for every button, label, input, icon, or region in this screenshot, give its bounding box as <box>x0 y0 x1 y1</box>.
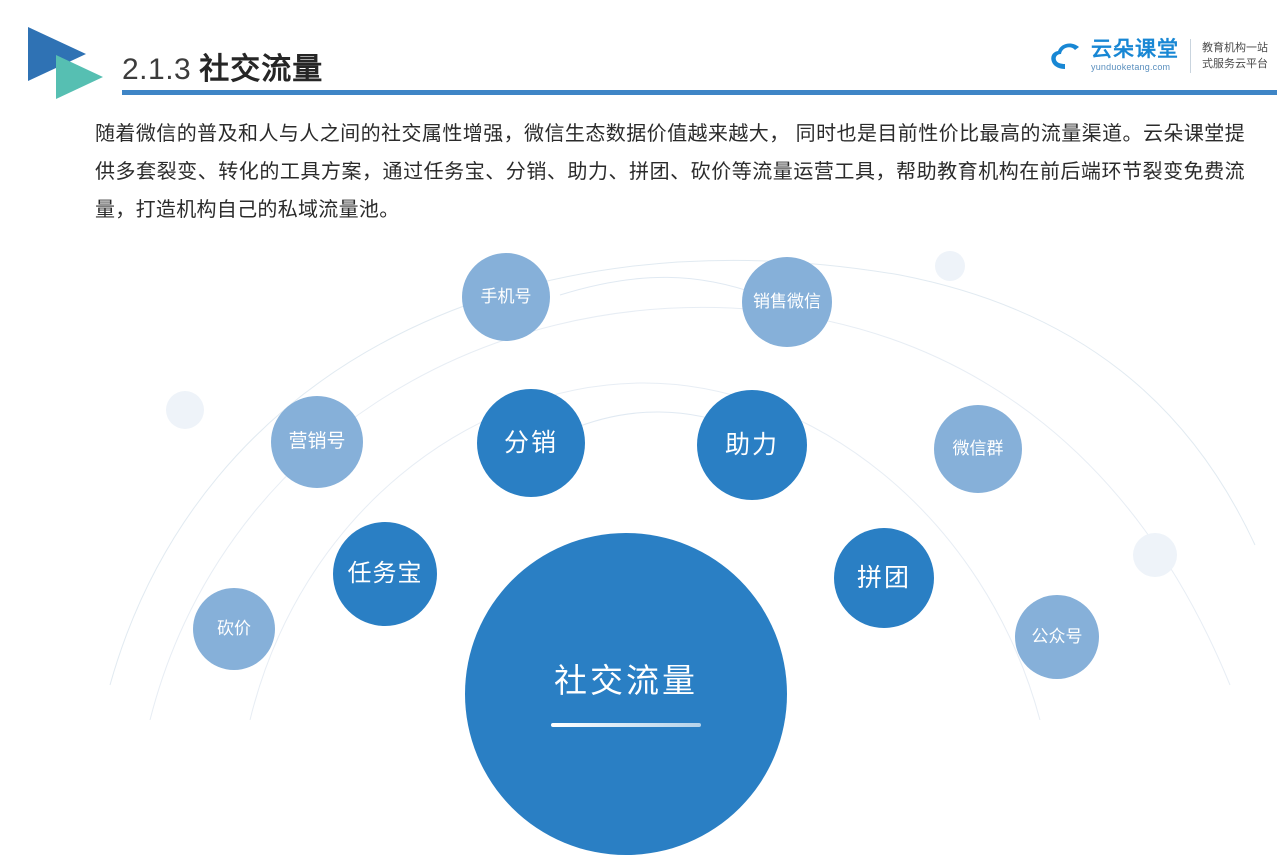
diagram-node-task-treasure[interactable]: 任务宝 <box>333 522 437 626</box>
diagram-node-group-buy[interactable]: 拼团 <box>834 528 934 628</box>
logo-triangle-teal <box>56 55 103 99</box>
brand-divider <box>1190 39 1191 73</box>
diagram-node-phone-number[interactable]: 手机号 <box>462 253 550 341</box>
decorative-circle <box>935 251 965 281</box>
body-paragraph: 随着微信的普及和人与人之间的社交属性增强，微信生态数据价值越来越大， 同时也是目… <box>95 115 1245 229</box>
diagram-node-wechat-group[interactable]: 微信群 <box>934 405 1022 493</box>
diagram-center-node[interactable]: 社交流量 <box>465 533 787 855</box>
section-title: 社交流量 <box>199 44 323 88</box>
slide-header: 2.1.3 社交流量 云朵课堂 yunduoketang.com 教育机构一站 … <box>0 0 1280 105</box>
brand-text: 云朵课堂 yunduoketang.com <box>1091 39 1179 73</box>
brand-tagline-line2: 式服务云平台 <box>1202 58 1268 70</box>
diagram-node-marketing-account[interactable]: 营销号 <box>271 396 363 488</box>
brand-tagline-line1: 教育机构一站 <box>1202 42 1268 54</box>
triangle-play-logo-icon <box>28 27 124 99</box>
title-underline-rule <box>122 90 1277 95</box>
center-underline <box>551 723 701 727</box>
decorative-circle <box>166 391 204 429</box>
diagram-node-sales-wechat[interactable]: 销售微信 <box>742 257 832 347</box>
brand-name-en: yunduoketang.com <box>1091 62 1179 73</box>
social-traffic-diagram: 手机号 销售微信 营销号 分销 助力 微信群 砍价 任务宝 拼团 公众号 社交流… <box>0 215 1280 720</box>
diagram-node-official-account[interactable]: 公众号 <box>1015 595 1099 679</box>
decorative-circle <box>1133 533 1177 577</box>
brand-tagline: 教育机构一站 式服务云平台 <box>1202 40 1268 73</box>
brand-name-cn: 云朵课堂 <box>1091 39 1179 61</box>
section-number: 2.1.3 <box>122 53 191 87</box>
diagram-center-label: 社交流量 <box>554 661 698 701</box>
diagram-node-distribution[interactable]: 分销 <box>477 389 585 497</box>
brand-lockup: 云朵课堂 yunduoketang.com 教育机构一站 式服务云平台 <box>1049 33 1268 79</box>
page-title: 2.1.3 社交流量 <box>122 44 323 88</box>
diagram-node-bargain[interactable]: 砍价 <box>193 588 275 670</box>
cloud-icon <box>1049 40 1089 72</box>
diagram-node-assist[interactable]: 助力 <box>697 390 807 500</box>
